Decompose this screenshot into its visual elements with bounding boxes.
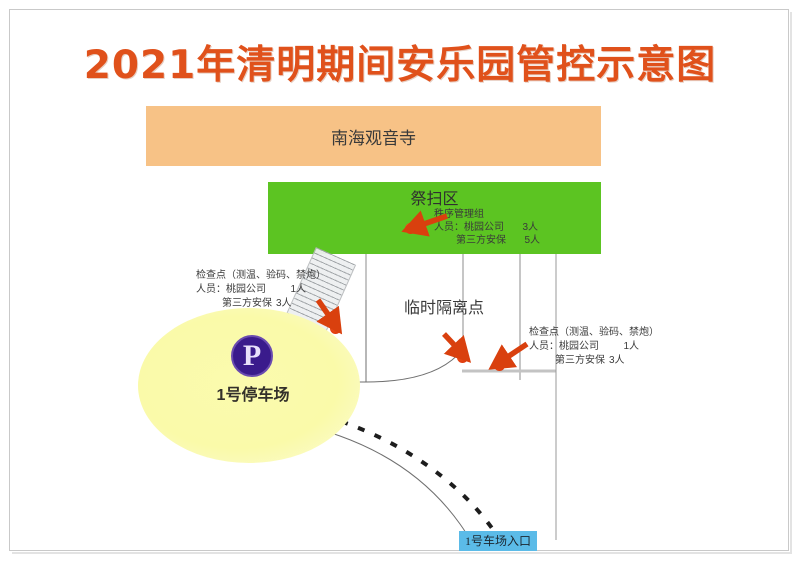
- entrance-label: 1号车场入口: [459, 531, 537, 551]
- arrow-sweep-area: [418, 216, 447, 226]
- arrow-layer: [0, 0, 800, 571]
- arrow-checkpoint-left: [318, 300, 332, 320]
- arrow-checkpoint-right: [503, 344, 527, 360]
- diagram-canvas: 2021年清明期间安乐园管控示意图 南海观音寺 祭扫区 秩序管理组 人员：桃园公…: [0, 0, 800, 571]
- arrow-isolation: [444, 334, 459, 350]
